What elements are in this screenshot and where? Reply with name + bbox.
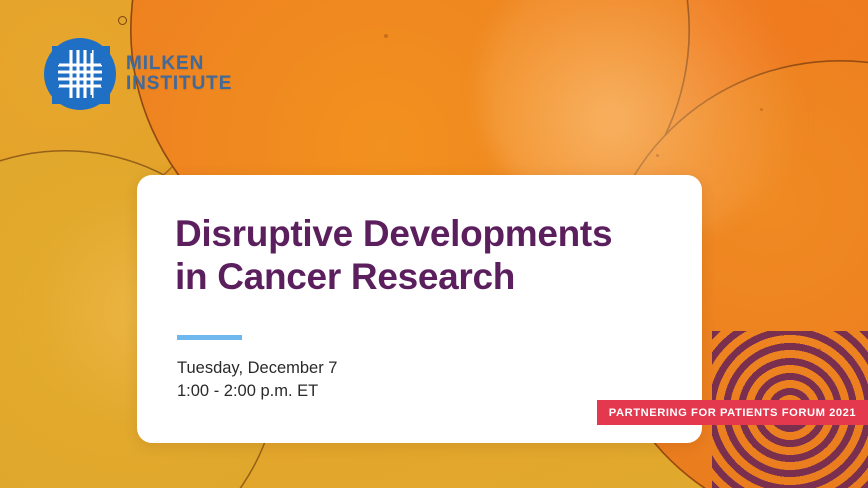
event-date: Tuesday, December 7 — [177, 357, 658, 380]
event-details: Tuesday, December 7 1:00 - 2:00 p.m. ET — [177, 357, 658, 404]
arc-quadrant-top-right — [790, 331, 868, 410]
title-divider — [177, 335, 242, 340]
forum-banner: PARTNERING FOR PATIENTS FORUM 2021 — [597, 400, 868, 425]
background-speck — [118, 16, 127, 25]
wordmark-line-2: INSTITUTE — [126, 74, 232, 94]
page-title: Disruptive Developments in Cancer Resear… — [175, 213, 658, 299]
milken-institute-grid-logo-icon — [44, 38, 116, 110]
promo-slide: MILKEN INSTITUTE Disruptive Developments… — [0, 0, 868, 488]
event-title-line-1: Disruptive Developments — [175, 213, 612, 254]
brand-logo: MILKEN INSTITUTE — [44, 38, 232, 110]
wordmark-line-1: MILKEN — [126, 54, 232, 74]
background-speck — [656, 154, 659, 157]
arc-quadrant-top-left — [712, 331, 790, 410]
forum-banner-label: PARTNERING FOR PATIENTS FORUM 2021 — [609, 407, 856, 419]
event-time: 1:00 - 2:00 p.m. ET — [177, 380, 658, 403]
event-title-line-2: in Cancer Research — [175, 256, 515, 297]
background-speck — [384, 34, 388, 38]
background-speck — [760, 108, 763, 111]
brand-wordmark: MILKEN INSTITUTE — [126, 54, 232, 94]
